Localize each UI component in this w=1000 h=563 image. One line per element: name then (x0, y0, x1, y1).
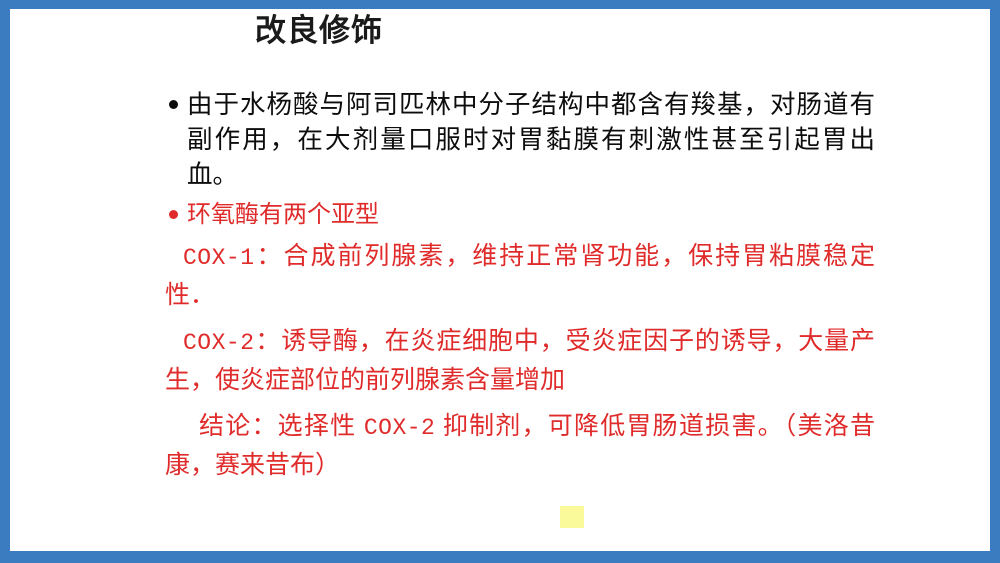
cox2-text: ：诱导酶，在炎症细胞中，受炎症因子的诱导，大量产生，使炎症部位的前列腺素含量增加 (165, 328, 875, 394)
bullet-item-cox-subtypes: 环氧酶有两个亚型 (165, 198, 875, 232)
conclusion-line: 结论：选择性 COX-2 抑制剂，可降低胃肠道损害。（美洛昔康，赛来昔布） (165, 408, 875, 485)
yellow-square-marker (560, 506, 584, 528)
bullet-item-salicylic-acid: 由于水杨酸与阿司匹林中分子结构中都含有羧基，对肠道有副作用，在大剂量口服时对胃黏… (165, 87, 875, 192)
bullet-dot-icon (169, 100, 178, 109)
bullet-item-text: 由于水杨酸与阿司匹林中分子结构中都含有羧基，对肠道有副作用，在大剂量口服时对胃黏… (187, 90, 875, 189)
conclusion-prefix: 结论：选择性 (199, 413, 364, 440)
slide-body: 由于水杨酸与阿司匹林中分子结构中都含有羧基，对肠道有副作用，在大剂量口服时对胃黏… (165, 87, 875, 485)
bullet-dot-icon (169, 210, 178, 219)
page-title: 改良修饰 (255, 11, 383, 51)
cox1-line: COX-1：合成前列腺素，维持正常肾功能，保持胃粘膜稳定性． (165, 238, 875, 315)
bullet-item-text: 环氧酶有两个亚型 (187, 202, 379, 228)
cox2-tag: COX-2 (183, 330, 255, 356)
cox2-line: COX-2：诱导酶，在炎症细胞中，受炎症因子的诱导，大量产生，使炎症部位的前列腺… (165, 323, 875, 400)
cox1-tag: COX-1 (183, 245, 255, 271)
cox1-text: ：合成前列腺素，维持正常肾功能，保持胃粘膜稳定性． (165, 243, 875, 309)
slide-content-area: 改良修饰 由于水杨酸与阿司匹林中分子结构中都含有羧基，对肠道有副作用，在大剂量口… (10, 9, 990, 551)
slide-frame: 改良修饰 由于水杨酸与阿司匹林中分子结构中都含有羧基，对肠道有副作用，在大剂量口… (0, 0, 1000, 563)
conclusion-tag: COX-2 (364, 415, 436, 441)
